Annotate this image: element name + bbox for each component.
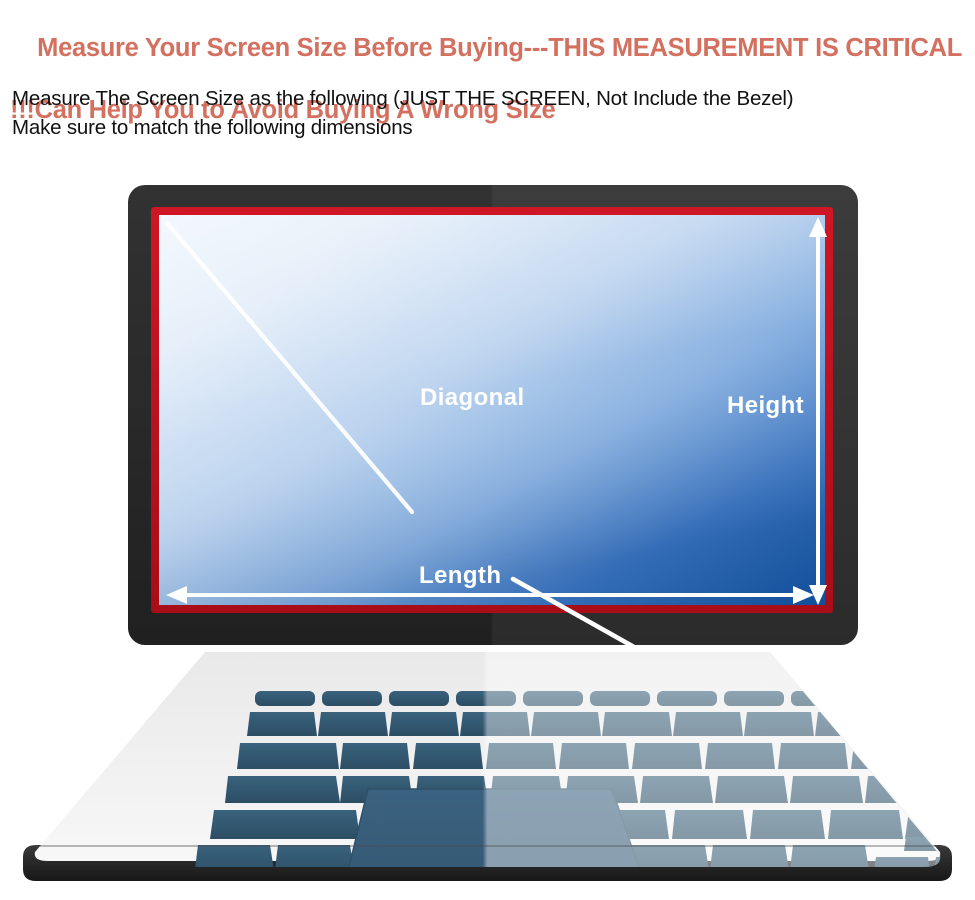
laptop-base <box>0 635 975 895</box>
height-label: Height <box>727 392 804 419</box>
key <box>886 712 956 736</box>
key <box>858 691 918 706</box>
deck-light-wash <box>0 635 975 895</box>
page-root: Measure Your Screen Size Before Buying--… <box>0 0 975 900</box>
key <box>925 691 975 706</box>
diagonal-label: Diagonal <box>420 384 525 411</box>
subtext-line-2: Make sure to match the following dimensi… <box>12 113 962 142</box>
key <box>957 712 975 736</box>
headline-line-1: Measure Your Screen Size Before Buying--… <box>37 34 962 62</box>
laptop-measurement-diagram: Diagonal Height Length <box>0 155 975 900</box>
length-label: Length <box>419 562 501 589</box>
base-keys-group <box>0 635 975 895</box>
key <box>924 743 975 769</box>
key <box>940 776 975 803</box>
subtext-line-1: Measure The Screen Size as the following… <box>12 84 962 113</box>
page-subtext: Measure The Screen Size as the following… <box>12 84 962 142</box>
